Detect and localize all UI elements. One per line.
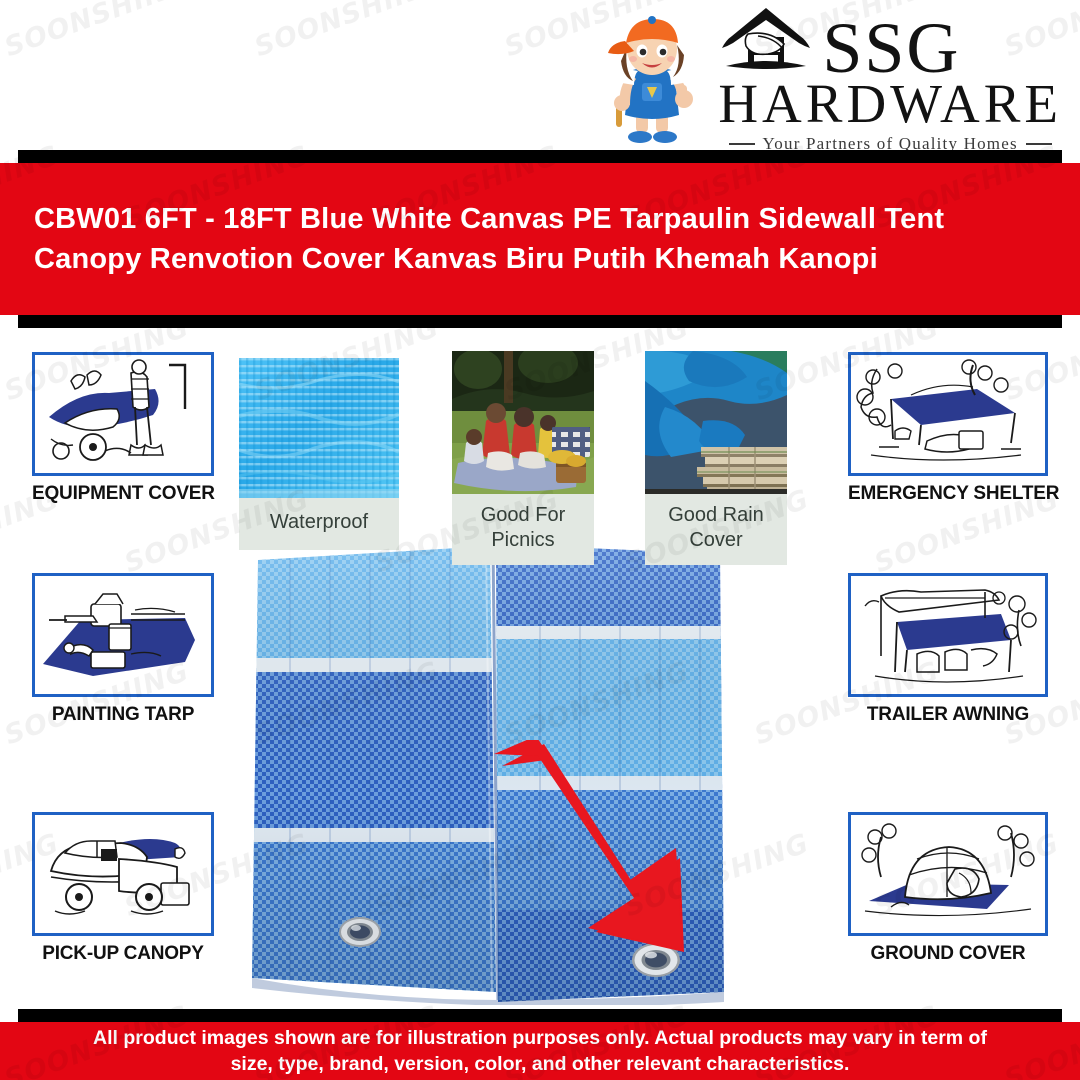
- disclaimer-text: All product images shown are for illustr…: [73, 1025, 1007, 1077]
- tagline-dash-left: [729, 143, 755, 145]
- brand-header: SSG HARDWARE Your Partners of Quality Ho…: [0, 0, 1080, 150]
- feature-label: PAINTING TARP: [32, 704, 214, 726]
- pickup-canopy-illustration-icon: [32, 812, 214, 936]
- photo-caption: Good For Picnics: [452, 494, 594, 565]
- feature-label: EQUIPMENT COVER: [32, 483, 214, 505]
- photo-caption: Waterproof: [239, 498, 399, 550]
- feature-pickup-canopy: PICK-UP CANOPY: [32, 812, 214, 965]
- feature-trailer-awning: TRAILER AWNING: [848, 573, 1048, 726]
- house-trowel-logo-icon: [718, 6, 814, 80]
- product-listing-image: SSG HARDWARE Your Partners of Quality Ho…: [0, 0, 1080, 1080]
- waterproof-fabric-swatch-photo: [239, 358, 399, 498]
- painting-tarp-illustration-icon: [32, 573, 214, 697]
- photo-card-picnics: Good For Picnics: [452, 351, 594, 565]
- divider-bar-top: [18, 150, 1062, 163]
- photo-card-waterproof: Waterproof: [239, 358, 399, 550]
- ssg-hardware-logo: SSG HARDWARE Your Partners of Quality Ho…: [592, 6, 1062, 154]
- feature-emergency-shelter: EMERGENCY SHELTER: [848, 352, 1048, 505]
- divider-bar-under-title: [18, 315, 1062, 328]
- girl-builder-mascot-icon: [592, 13, 712, 148]
- product-title-banner: CBW01 6FT - 18FT Blue White Canvas PE Ta…: [0, 163, 1080, 315]
- family-picnic-photo: [452, 351, 594, 494]
- product-title: CBW01 6FT - 18FT Blue White Canvas PE Ta…: [0, 199, 1080, 279]
- tarp-over-lumber-photo: [645, 351, 787, 494]
- feature-label: TRAILER AWNING: [848, 704, 1048, 726]
- feature-label: GROUND COVER: [848, 943, 1048, 965]
- feature-painting-tarp: PAINTING TARP: [32, 573, 214, 726]
- photo-caption: Good Rain Cover: [645, 494, 787, 565]
- logo-wordmark: SSG HARDWARE Your Partners of Quality Ho…: [718, 6, 1062, 154]
- logo-hardware-text: HARDWARE: [718, 76, 1062, 132]
- disclaimer-banner: All product images shown are for illustr…: [0, 1022, 1080, 1080]
- feature-label: PICK-UP CANOPY: [32, 943, 214, 965]
- trailer-awning-illustration-icon: [848, 573, 1048, 697]
- emergency-shelter-illustration-icon: [848, 352, 1048, 476]
- grommet-left: [339, 917, 381, 947]
- disclaimer-line-2: size, type, brand, version, color, and o…: [231, 1053, 850, 1075]
- feature-ground-cover: GROUND COVER: [848, 812, 1048, 965]
- ground-cover-illustration-icon: [848, 812, 1048, 936]
- tagline-dash-right: [1026, 143, 1052, 145]
- logo-ssg-text: SSG: [822, 16, 960, 80]
- equipment-cover-illustration-icon: [32, 352, 214, 476]
- red-arrow-pointing-to-grommet: [480, 740, 730, 970]
- divider-bar-bottom: [18, 1009, 1062, 1022]
- disclaimer-line-1: All product images shown are for illustr…: [93, 1027, 987, 1049]
- feature-equipment-cover: EQUIPMENT COVER: [32, 352, 214, 505]
- feature-label: EMERGENCY SHELTER: [848, 483, 1048, 505]
- photo-card-rain-cover: Good Rain Cover: [645, 351, 787, 565]
